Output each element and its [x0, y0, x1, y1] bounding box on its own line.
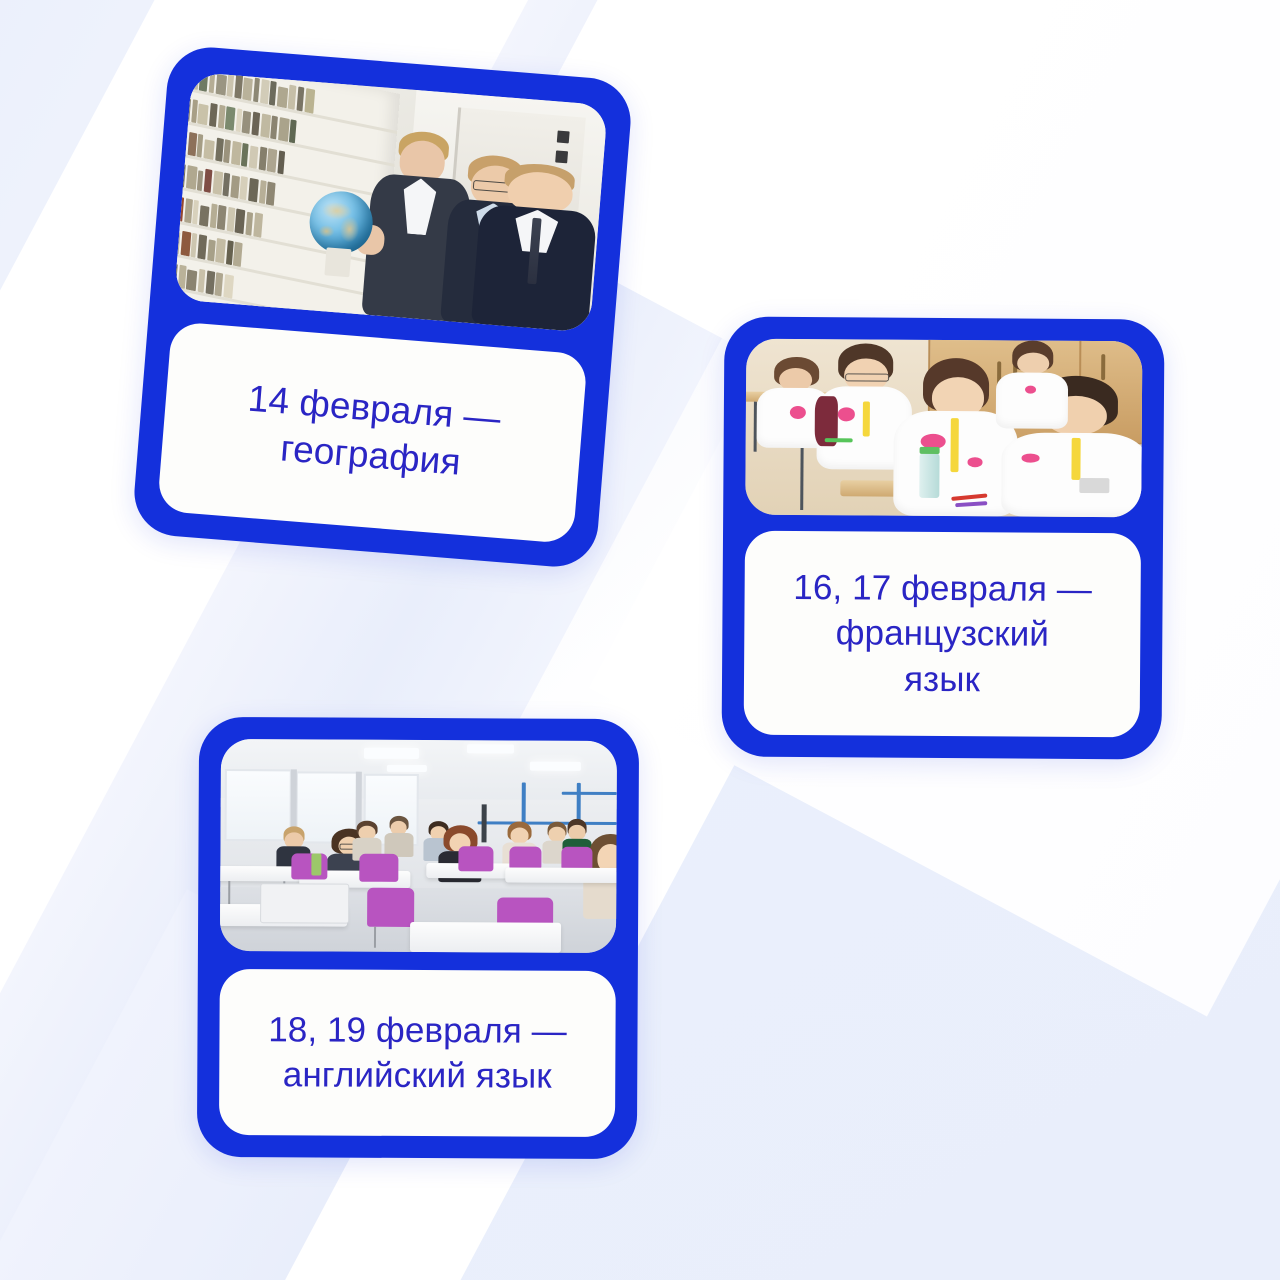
- person-seat-4: [383, 816, 415, 856]
- caption-line-2: английский язык: [283, 1055, 552, 1095]
- person-student-tie: [473, 160, 598, 333]
- classroom-table-front: [410, 922, 561, 952]
- exam-room-photo: [745, 339, 1142, 518]
- water-bottle: [920, 452, 940, 498]
- ceiling-light-1: [363, 748, 418, 759]
- ceiling-light-4: [387, 765, 427, 772]
- globe-stand: [324, 247, 351, 276]
- poster-canvas: 14 февраля — география: [0, 0, 1280, 1280]
- modern-classroom-scene: [220, 739, 617, 953]
- ceiling-light-3: [530, 762, 582, 771]
- card-english[interactable]: 18, 19 февраля — английский язык: [197, 717, 639, 1159]
- card-geography-caption: 14 февраля — география: [157, 321, 588, 544]
- card-french-caption: 16, 17 февраля — французский язык: [744, 531, 1141, 738]
- bottle-green: [311, 854, 321, 875]
- classroom-chair-2: [359, 854, 399, 882]
- classroom-chair-4: [458, 846, 494, 872]
- classroom-chair-5: [509, 846, 541, 869]
- caption-line-1: 16, 17 февраля —: [793, 568, 1092, 609]
- classroom-chair-6: [561, 847, 593, 870]
- bottle-cap: [920, 447, 940, 454]
- chair-back-panel: [260, 883, 349, 924]
- card-english-caption: 18, 19 февраля — английский язык: [219, 969, 616, 1137]
- caption-line-1: 18, 19 февраля —: [268, 1010, 567, 1051]
- classroom-chair-1: [292, 854, 328, 880]
- badge-logo: [1079, 477, 1109, 493]
- card-geography[interactable]: 14 февраля — география: [131, 44, 634, 570]
- classroom-table-4: [505, 868, 617, 883]
- person-student-back-right: [991, 340, 1071, 429]
- glasses-icon: [845, 373, 889, 382]
- library-globe-photo: [174, 72, 608, 333]
- card-french[interactable]: 16, 17 февраля — французский язык: [721, 316, 1164, 759]
- highlighter-green: [825, 438, 853, 443]
- caption-line-2: французский: [836, 614, 1050, 654]
- library-scene: [174, 72, 608, 333]
- modern-classroom-photo: [220, 739, 617, 953]
- tripod-stand: [482, 804, 487, 842]
- caption-line-2: география: [279, 427, 462, 482]
- ceiling-light-2: [466, 744, 514, 753]
- wall-stripe-horizontal-2: [561, 792, 616, 795]
- caption-line-3: язык: [904, 659, 980, 699]
- classroom-chair-3: [367, 888, 415, 926]
- exam-room-scene: [745, 339, 1142, 518]
